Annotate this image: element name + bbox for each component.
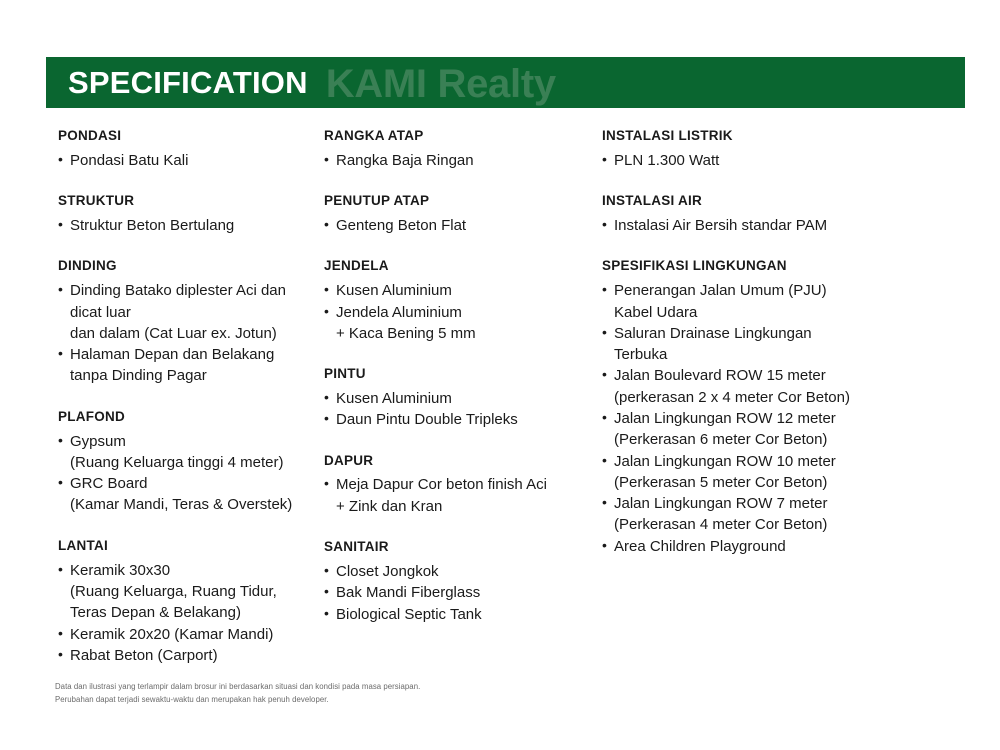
- section-item-list: Rangka Baja Ringan: [324, 150, 596, 171]
- list-item-text: Daun Pintu Double Tripleks: [336, 411, 518, 428]
- section-item-list: Kusen AluminiumJendela Aluminium+ Kaca B…: [324, 280, 596, 344]
- list-item-text: Meja Dapur Cor beton finish Aci: [336, 476, 547, 493]
- list-item-text: Struktur Beton Bertulang: [70, 217, 234, 234]
- list-item: Jalan Lingkungan ROW 10 meter(Perkerasan…: [602, 451, 980, 494]
- list-item: Saluran Drainase LingkunganTerbuka: [602, 323, 980, 366]
- list-item-text: Gypsum: [70, 433, 126, 450]
- section-heading: PONDASI: [58, 128, 306, 145]
- list-item: GRC Board(Kamar Mandi, Teras & Overstek): [58, 473, 306, 516]
- list-item-continuation: (Kamar Mandi, Teras & Overstek): [70, 494, 306, 515]
- list-item-continuation: + Kaca Bening 5 mm: [336, 323, 596, 344]
- section-item-list: Closet JongkokBak Mandi FiberglassBiolog…: [324, 561, 596, 625]
- specification-section: INSTALASI LISTRIKPLN 1.300 Watt: [602, 128, 980, 171]
- list-item: Rangka Baja Ringan: [324, 150, 596, 171]
- list-item-text: Halaman Depan dan Belakang: [70, 346, 274, 363]
- list-item: Daun Pintu Double Tripleks: [324, 409, 596, 430]
- list-item: Gypsum(Ruang Keluarga tinggi 4 meter): [58, 431, 306, 474]
- list-item: Kusen Aluminium: [324, 388, 596, 409]
- specification-section: JENDELAKusen AluminiumJendela Aluminium+…: [324, 258, 596, 344]
- list-item: Penerangan Jalan Umum (PJU)Kabel Udara: [602, 280, 980, 323]
- specification-section: DAPURMeja Dapur Cor beton finish Aci+ Zi…: [324, 453, 596, 517]
- list-item-continuation: (perkerasan 2 x 4 meter Cor Beton): [614, 387, 980, 408]
- specification-section: PONDASIPondasi Batu Kali: [58, 128, 306, 171]
- specification-column-2: RANGKA ATAPRangka Baja RinganPENUTUP ATA…: [312, 128, 602, 666]
- section-item-list: Gypsum(Ruang Keluarga tinggi 4 meter)GRC…: [58, 431, 306, 516]
- list-item-text: Jalan Boulevard ROW 15 meter: [614, 367, 826, 384]
- list-item-continuation: (Ruang Keluarga, Ruang Tidur,: [70, 581, 306, 602]
- section-item-list: Struktur Beton Bertulang: [58, 215, 306, 236]
- list-item-text: Penerangan Jalan Umum (PJU): [614, 282, 827, 299]
- list-item: Rabat Beton (Carport): [58, 645, 306, 666]
- list-item-text: Jalan Lingkungan ROW 12 meter: [614, 410, 836, 427]
- list-item: Halaman Depan dan Belakangtanpa Dinding …: [58, 344, 306, 387]
- list-item-continuation: (Perkerasan 5 meter Cor Beton): [614, 472, 980, 493]
- list-item-text: Kusen Aluminium: [336, 390, 452, 407]
- specification-column-3: INSTALASI LISTRIKPLN 1.300 WattINSTALASI…: [602, 128, 1000, 666]
- list-item-text: Genteng Beton Flat: [336, 217, 466, 234]
- list-item-continuation: (Ruang Keluarga tinggi 4 meter): [70, 452, 306, 473]
- section-item-list: Pondasi Batu Kali: [58, 150, 306, 171]
- disclaimer: Data dan ilustrasi yang terlampir dalam …: [55, 681, 575, 706]
- specification-section: INSTALASI AIRInstalasi Air Bersih standa…: [602, 193, 980, 236]
- section-item-list: Meja Dapur Cor beton finish Aci+ Zink da…: [324, 474, 596, 517]
- page-title: SPECIFICATION: [68, 67, 308, 98]
- list-item-continuation: dan dalam (Cat Luar ex. Jotun): [70, 323, 306, 344]
- list-item: Meja Dapur Cor beton finish Aci+ Zink da…: [324, 474, 596, 517]
- list-item: Area Children Playground: [602, 536, 980, 557]
- list-item-continuation: Kabel Udara: [614, 302, 980, 323]
- list-item: Jalan Lingkungan ROW 12 meter(Perkerasan…: [602, 408, 980, 451]
- header-bar: SPECIFICATION KAMI Realty: [46, 57, 965, 108]
- section-item-list: PLN 1.300 Watt: [602, 150, 980, 171]
- list-item: Instalasi Air Bersih standar PAM: [602, 215, 980, 236]
- list-item-text: PLN 1.300 Watt: [614, 152, 719, 169]
- list-item-text: Jendela Aluminium: [336, 304, 462, 321]
- list-item: Struktur Beton Bertulang: [58, 215, 306, 236]
- section-item-list: Dinding Batako diplester Aci dandicat lu…: [58, 280, 306, 386]
- list-item: PLN 1.300 Watt: [602, 150, 980, 171]
- section-heading: INSTALASI AIR: [602, 193, 980, 210]
- section-item-list: Penerangan Jalan Umum (PJU)Kabel UdaraSa…: [602, 280, 980, 557]
- list-item-continuation: tanpa Dinding Pagar: [70, 365, 306, 386]
- list-item-continuation: (Perkerasan 6 meter Cor Beton): [614, 429, 980, 450]
- list-item: Bak Mandi Fiberglass: [324, 582, 596, 603]
- list-item: Keramik 20x20 (Kamar Mandi): [58, 624, 306, 645]
- section-item-list: Keramik 30x30(Ruang Keluarga, Ruang Tidu…: [58, 560, 306, 666]
- list-item: Kusen Aluminium: [324, 280, 596, 301]
- list-item-continuation: Terbuka: [614, 344, 980, 365]
- section-item-list: Genteng Beton Flat: [324, 215, 596, 236]
- list-item-text: Biological Septic Tank: [336, 606, 482, 623]
- specification-column-1: PONDASIPondasi Batu KaliSTRUKTURStruktur…: [0, 128, 312, 666]
- list-item: Dinding Batako diplester Aci dandicat lu…: [58, 280, 306, 344]
- list-item-text: Bak Mandi Fiberglass: [336, 584, 480, 601]
- specification-section: PENUTUP ATAPGenteng Beton Flat: [324, 193, 596, 236]
- list-item: Jalan Boulevard ROW 15 meter(perkerasan …: [602, 365, 980, 408]
- list-item-text: Area Children Playground: [614, 538, 786, 555]
- list-item-text: Rangka Baja Ringan: [336, 152, 474, 169]
- list-item-continuation: dicat luar: [70, 302, 306, 323]
- section-heading: DINDING: [58, 258, 306, 275]
- list-item-text: Closet Jongkok: [336, 563, 439, 580]
- list-item: Keramik 30x30(Ruang Keluarga, Ruang Tidu…: [58, 560, 306, 624]
- section-heading: RANGKA ATAP: [324, 128, 596, 145]
- list-item: Biological Septic Tank: [324, 604, 596, 625]
- list-item-text: Instalasi Air Bersih standar PAM: [614, 217, 827, 234]
- list-item-text: Keramik 30x30: [70, 562, 170, 579]
- specification-section: LANTAIKeramik 30x30(Ruang Keluarga, Ruan…: [58, 538, 306, 666]
- list-item: Jendela Aluminium+ Kaca Bening 5 mm: [324, 302, 596, 345]
- section-heading: DAPUR: [324, 453, 596, 470]
- list-item: Genteng Beton Flat: [324, 215, 596, 236]
- list-item-text: Jalan Lingkungan ROW 10 meter: [614, 453, 836, 470]
- section-heading: PINTU: [324, 366, 596, 383]
- list-item-text: Jalan Lingkungan ROW 7 meter: [614, 495, 827, 512]
- list-item-text: Saluran Drainase Lingkungan: [614, 325, 812, 342]
- list-item-text: Dinding Batako diplester Aci dan: [70, 282, 286, 299]
- section-heading: SPESIFIKASI LINGKUNGAN: [602, 258, 980, 275]
- section-heading: LANTAI: [58, 538, 306, 555]
- list-item: Closet Jongkok: [324, 561, 596, 582]
- list-item-text: Keramik 20x20 (Kamar Mandi): [70, 626, 273, 643]
- disclaimer-line-1: Data dan ilustrasi yang terlampir dalam …: [55, 681, 575, 694]
- list-item: Pondasi Batu Kali: [58, 150, 306, 171]
- list-item-continuation: + Zink dan Kran: [336, 496, 596, 517]
- specification-section: STRUKTURStruktur Beton Bertulang: [58, 193, 306, 236]
- list-item-text: GRC Board: [70, 475, 148, 492]
- specification-section: PINTUKusen AluminiumDaun Pintu Double Tr…: [324, 366, 596, 430]
- section-item-list: Kusen AluminiumDaun Pintu Double Triplek…: [324, 388, 596, 431]
- section-item-list: Instalasi Air Bersih standar PAM: [602, 215, 980, 236]
- list-item-text: Rabat Beton (Carport): [70, 647, 218, 664]
- section-heading: PLAFOND: [58, 409, 306, 426]
- disclaimer-line-2: Perubahan dapat terjadi sewaktu-waktu da…: [55, 694, 575, 707]
- specification-section: SANITAIRCloset JongkokBak Mandi Fibergla…: [324, 539, 596, 625]
- specification-section: PLAFONDGypsum(Ruang Keluarga tinggi 4 me…: [58, 409, 306, 516]
- brand-watermark: KAMI Realty: [326, 64, 556, 104]
- specification-section: DINDINGDinding Batako diplester Aci dand…: [58, 258, 306, 386]
- specification-section: SPESIFIKASI LINGKUNGANPenerangan Jalan U…: [602, 258, 980, 557]
- section-heading: JENDELA: [324, 258, 596, 275]
- list-item-text: Kusen Aluminium: [336, 282, 452, 299]
- section-heading: PENUTUP ATAP: [324, 193, 596, 210]
- specification-section: RANGKA ATAPRangka Baja Ringan: [324, 128, 596, 171]
- list-item: Jalan Lingkungan ROW 7 meter(Perkerasan …: [602, 493, 980, 536]
- specification-columns: PONDASIPondasi Batu KaliSTRUKTURStruktur…: [0, 128, 1000, 666]
- section-heading: STRUKTUR: [58, 193, 306, 210]
- list-item-continuation: Teras Depan & Belakang): [70, 602, 306, 623]
- list-item-continuation: (Perkerasan 4 meter Cor Beton): [614, 514, 980, 535]
- list-item-text: Pondasi Batu Kali: [70, 152, 188, 169]
- section-heading: SANITAIR: [324, 539, 596, 556]
- section-heading: INSTALASI LISTRIK: [602, 128, 980, 145]
